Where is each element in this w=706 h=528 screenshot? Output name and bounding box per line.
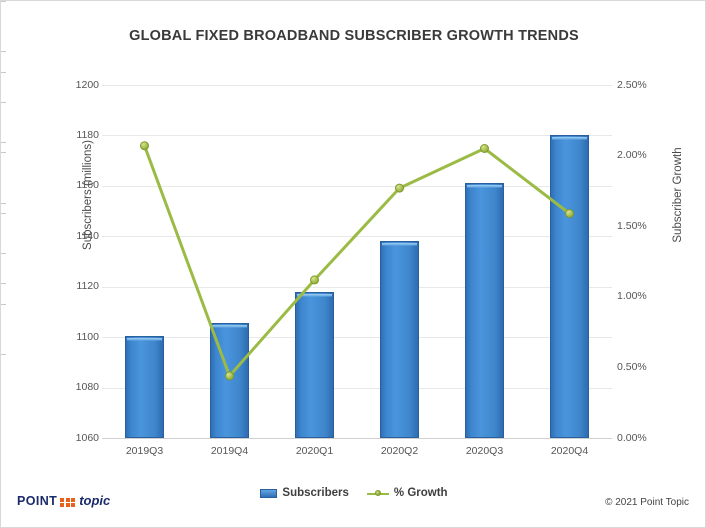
gridline xyxy=(102,438,612,439)
y-axis-right-tick-label: 1.00% xyxy=(617,291,647,302)
legend-label-growth: % Growth xyxy=(394,487,448,499)
plot-area xyxy=(102,85,612,438)
legend-item-subscribers[interactable]: Subscribers xyxy=(260,487,348,499)
y-axis-left-tick-label: 1120 xyxy=(76,281,99,292)
x-axis-tick-label: 2020Q2 xyxy=(357,445,442,457)
logo-text-point: POINT xyxy=(17,494,57,508)
y-axis-left-tick-label: 1100 xyxy=(76,332,99,343)
growth-data-point[interactable] xyxy=(566,210,574,218)
y-axis-right-tick-label: 2.00% xyxy=(617,150,647,161)
y-axis-right-tick-label: 2.50% xyxy=(617,80,647,91)
y-axis-left-tick-label: 1200 xyxy=(76,80,99,91)
y-axis-left-tickmark xyxy=(1,51,6,52)
y-axis-left-tick-label: 1080 xyxy=(76,382,99,393)
y-axis-right-ticks: 2.50%2.00%1.50%1.00%0.50%0.00% xyxy=(617,85,677,438)
y-axis-right-tickmark xyxy=(1,354,6,355)
x-axis-labels: 2019Q32019Q42020Q12020Q22020Q32020Q4 xyxy=(102,445,612,463)
chart-card: GLOBAL FIXED BROADBAND SUBSCRIBER GROWTH… xyxy=(0,0,706,528)
y-axis-left-tickmark xyxy=(1,152,6,153)
y-axis-right-tickmark xyxy=(1,1,6,2)
legend-bar-swatch-icon xyxy=(260,489,277,498)
copyright-notice: © 2021 Point Topic xyxy=(605,497,689,508)
logo-text-topic: topic xyxy=(79,493,110,508)
growth-data-point[interactable] xyxy=(396,184,404,192)
y-axis-right-tickmark xyxy=(1,142,6,143)
y-axis-left-tick-label: 1160 xyxy=(76,180,99,191)
y-axis-right-tickmarks xyxy=(1,354,6,528)
y-axis-left-tickmark xyxy=(1,102,6,103)
chart-title: GLOBAL FIXED BROADBAND SUBSCRIBER GROWTH… xyxy=(1,28,706,44)
y-axis-left-tick-label: 1060 xyxy=(76,433,99,444)
y-axis-left-tick-label: 1180 xyxy=(76,130,99,141)
legend-item-growth[interactable]: % Growth xyxy=(367,487,448,499)
x-axis-tick-label: 2020Q3 xyxy=(442,445,527,457)
x-axis-tick-label: 2019Q4 xyxy=(187,445,272,457)
growth-data-point[interactable] xyxy=(226,372,234,380)
y-axis-left-tickmark xyxy=(1,304,6,305)
y-axis-left-tickmarks xyxy=(1,1,6,354)
growth-data-point[interactable] xyxy=(311,276,319,284)
growth-line-path xyxy=(145,146,570,376)
logo-dot-grid-icon xyxy=(60,498,75,509)
y-axis-right-tickmark xyxy=(1,72,6,73)
legend-line-swatch-icon xyxy=(367,489,389,498)
growth-data-point[interactable] xyxy=(141,142,149,150)
y-axis-left-tick-label: 1140 xyxy=(76,231,99,242)
y-axis-right-tick-label: 0.00% xyxy=(617,433,647,444)
y-axis-left-ticks: 12001180116011401120110010801060 xyxy=(39,85,99,438)
x-axis-tick-label: 2020Q1 xyxy=(272,445,357,457)
y-axis-right-tick-label: 0.50% xyxy=(617,362,647,373)
legend-label-subscribers: Subscribers xyxy=(282,487,348,499)
y-axis-right-tickmark xyxy=(1,213,6,214)
y-axis-right-tickmark xyxy=(1,283,6,284)
x-axis-tick-label: 2019Q3 xyxy=(102,445,187,457)
line-series-growth xyxy=(102,85,612,438)
x-axis-tick-label: 2020Q4 xyxy=(527,445,612,457)
growth-data-point[interactable] xyxy=(481,145,489,153)
y-axis-left-tickmark xyxy=(1,203,6,204)
y-axis-left-tickmark xyxy=(1,253,6,254)
y-axis-right-tick-label: 1.50% xyxy=(617,221,647,232)
point-topic-logo: POINT topic xyxy=(17,493,110,508)
